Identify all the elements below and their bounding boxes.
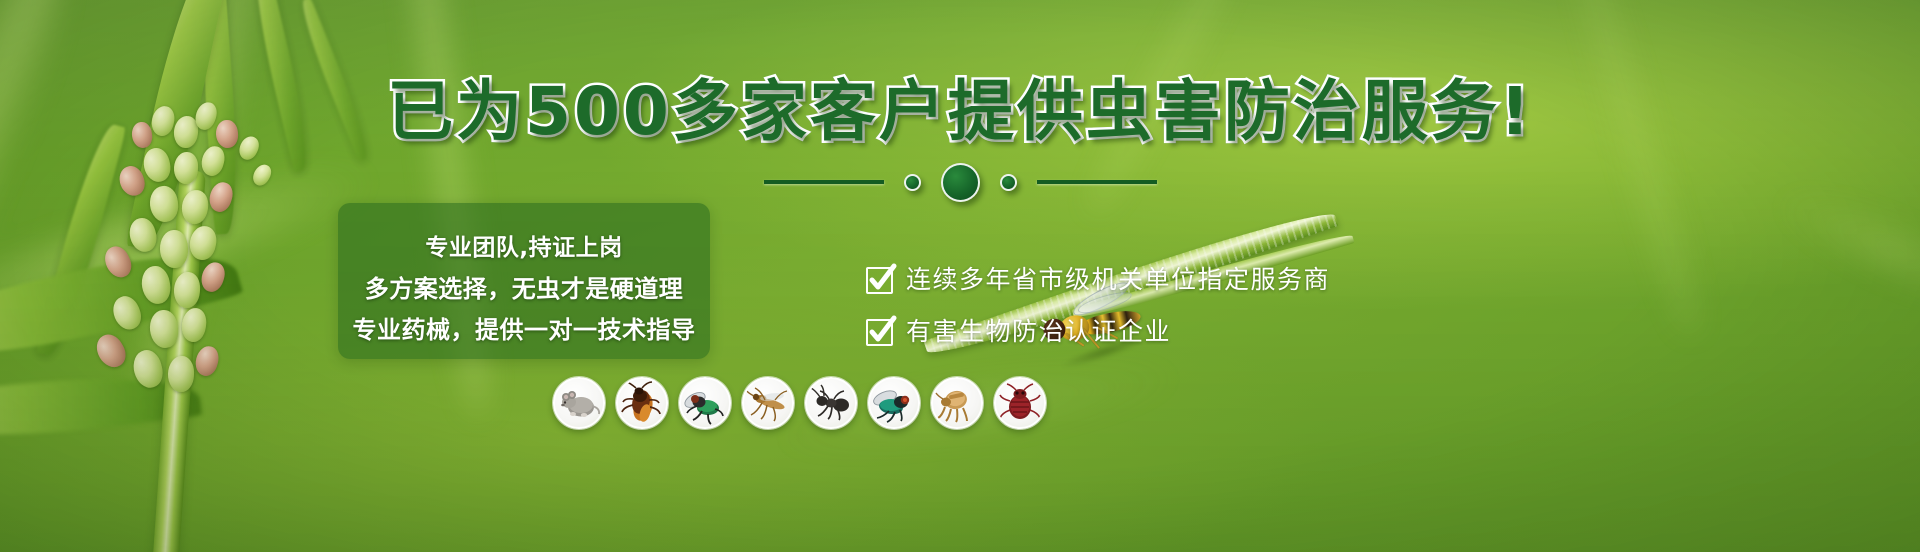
- certification-item: 连续多年省市级机关单位指定服务商: [866, 265, 1330, 295]
- certification-item: 有害生物防治认证企业: [866, 317, 1330, 347]
- cockroach-icon[interactable]: [616, 377, 668, 429]
- decorative-divider: [0, 160, 1920, 204]
- pest-icon-row: [553, 377, 1046, 429]
- housefly-icon[interactable]: [679, 377, 731, 429]
- promo-banner: 已为500多家客户提供虫害防治服务! 专业团队,持证上岗 多方案选择，无虫才是硬…: [0, 0, 1920, 552]
- selling-point-2: 多方案选择，无虫才是硬道理: [365, 274, 684, 304]
- certification-label: 连续多年省市级机关单位指定服务商: [906, 265, 1330, 295]
- divider-line-right: [1037, 180, 1157, 184]
- flea-icon[interactable]: [931, 377, 983, 429]
- divider-line-left: [764, 180, 884, 184]
- checkbox-checked-icon: [866, 319, 893, 346]
- bedbug-icon[interactable]: [994, 377, 1046, 429]
- banner-headline-text: 已为500多家客户提供虫害防治服务!: [387, 73, 1533, 150]
- ant-icon[interactable]: [805, 377, 857, 429]
- selling-points-box: 专业团队,持证上岗 多方案选择，无虫才是硬道理 专业药械，提供一对一技术指导: [338, 203, 710, 359]
- divider-small-dot-right: [1000, 174, 1017, 191]
- banner-headline: 已为500多家客户提供虫害防治服务!: [0, 76, 1920, 148]
- checkbox-checked-icon: [866, 267, 893, 294]
- mosquito-icon[interactable]: [742, 377, 794, 429]
- selling-point-3: 专业药械，提供一对一技术指导: [353, 315, 696, 345]
- divider-large-dot: [941, 163, 980, 202]
- certification-list: 连续多年省市级机关单位指定服务商 有害生物防治认证企业: [866, 265, 1330, 347]
- mouse-icon[interactable]: [553, 377, 605, 429]
- selling-point-1: 专业团队,持证上岗: [425, 233, 622, 263]
- divider-small-dot-left: [904, 174, 921, 191]
- blowfly-icon[interactable]: [868, 377, 920, 429]
- certification-label: 有害生物防治认证企业: [906, 317, 1171, 347]
